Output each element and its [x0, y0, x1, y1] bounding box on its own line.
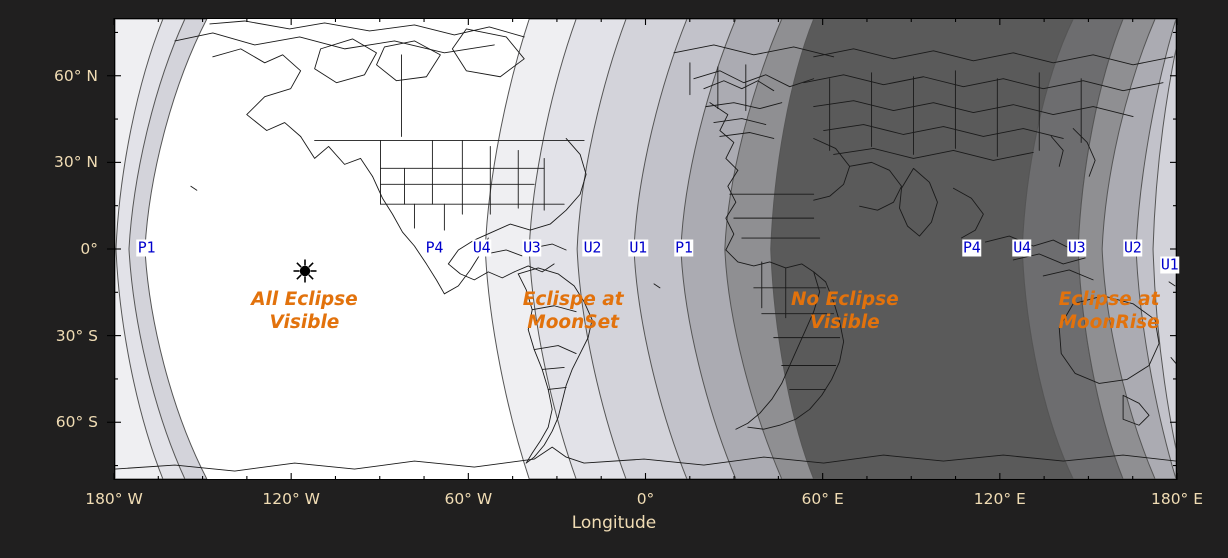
contact-label-u4-2: U4 [472, 239, 491, 256]
contact-label-u1-5: U1 [628, 239, 647, 256]
contact-label-u3-3: U3 [522, 239, 541, 256]
region-annotation-0: All Eclipse Visible [251, 288, 358, 334]
contact-label-p4-7: P4 [962, 239, 981, 256]
x-tick-label-3: 0° [637, 490, 655, 508]
region-annotation-3: Eclipse at MoonRise [1059, 288, 1160, 334]
x-tick-label-4: 60° E [802, 490, 844, 508]
y-tick-label-4: 60° S [0, 413, 98, 431]
y-tick-label-3: 30° S [0, 327, 98, 345]
subsolar-point-icon [292, 258, 318, 284]
y-tick-label-1: 30° N [0, 153, 98, 171]
x-axis-title: Longitude [572, 513, 657, 533]
x-tick-label-6: 180° E [1151, 490, 1203, 508]
contact-label-p4-1: P4 [425, 239, 444, 256]
contact-label-u2-10: U2 [1123, 239, 1142, 256]
contact-label-u3-9: U3 [1067, 239, 1086, 256]
x-tick-label-1: 120° W [262, 490, 320, 508]
x-tick-label-2: 60° W [444, 490, 492, 508]
y-tick-label-0: 60° N [0, 67, 98, 85]
y-tick-label-2: 0° [0, 240, 98, 258]
map-annotation-overlay: P1P4U4U3U2U1P1P4U4U3U2U1All Eclipse Visi… [114, 18, 1177, 480]
contact-label-u1-11: U1 [1160, 256, 1179, 273]
contact-label-u4-8: U4 [1012, 239, 1031, 256]
y-axis-title: Latitude [0, 199, 4, 359]
x-tick-label-5: 120° E [974, 490, 1026, 508]
x-tick-label-0: 180° W [85, 490, 143, 508]
contact-label-p1-6: P1 [674, 239, 693, 256]
region-annotation-2: No Eclipse Visible [791, 288, 899, 334]
contact-label-u2-4: U2 [583, 239, 602, 256]
eclipse-visibility-figure: 60° N30° N0°30° S60° S 180° W120° W60° W… [0, 0, 1228, 558]
region-annotation-1: Eclispe at MoonSet [523, 288, 624, 334]
contact-label-p1-0: P1 [137, 239, 156, 256]
